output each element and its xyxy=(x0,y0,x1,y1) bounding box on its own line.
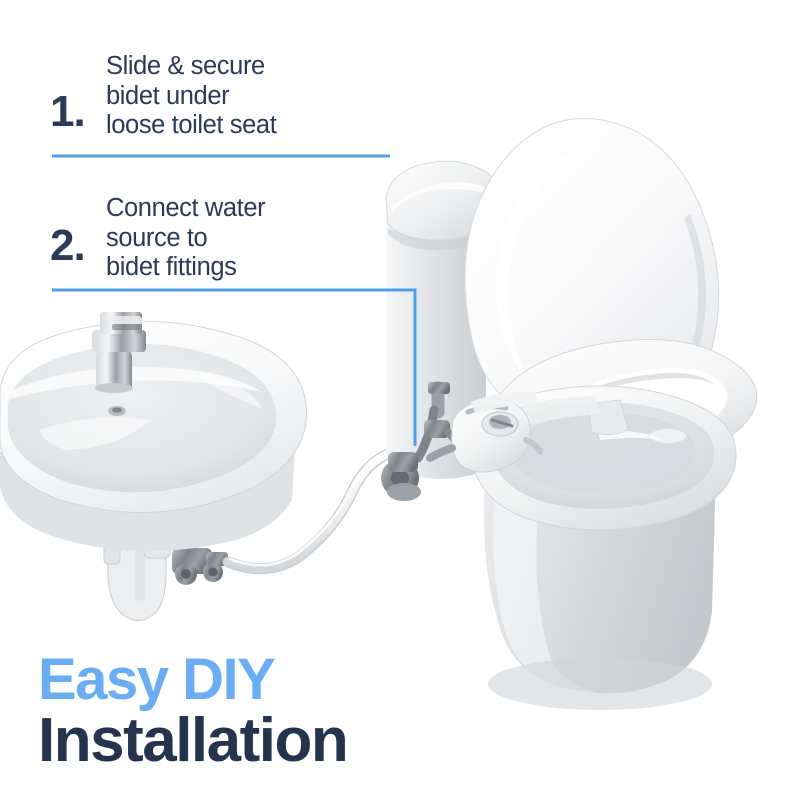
step-2-number: 2. xyxy=(50,194,106,268)
step-1-number: 1. xyxy=(50,52,106,134)
step-1-text: Slide & secure bidet under loose toilet … xyxy=(106,52,276,141)
step-2-text: Connect water source to bidet fittings xyxy=(106,194,265,283)
step-2: 2. Connect water source to bidet fitting… xyxy=(50,194,265,283)
headline-line-1: Easy DIY xyxy=(38,652,347,709)
headline: Easy DIY Installation xyxy=(38,652,347,772)
infographic-page: 1. Slide & secure bidet under loose toil… xyxy=(0,0,800,800)
step-1: 1. Slide & secure bidet under loose toil… xyxy=(50,52,276,141)
headline-line-2: Installation xyxy=(38,711,347,772)
